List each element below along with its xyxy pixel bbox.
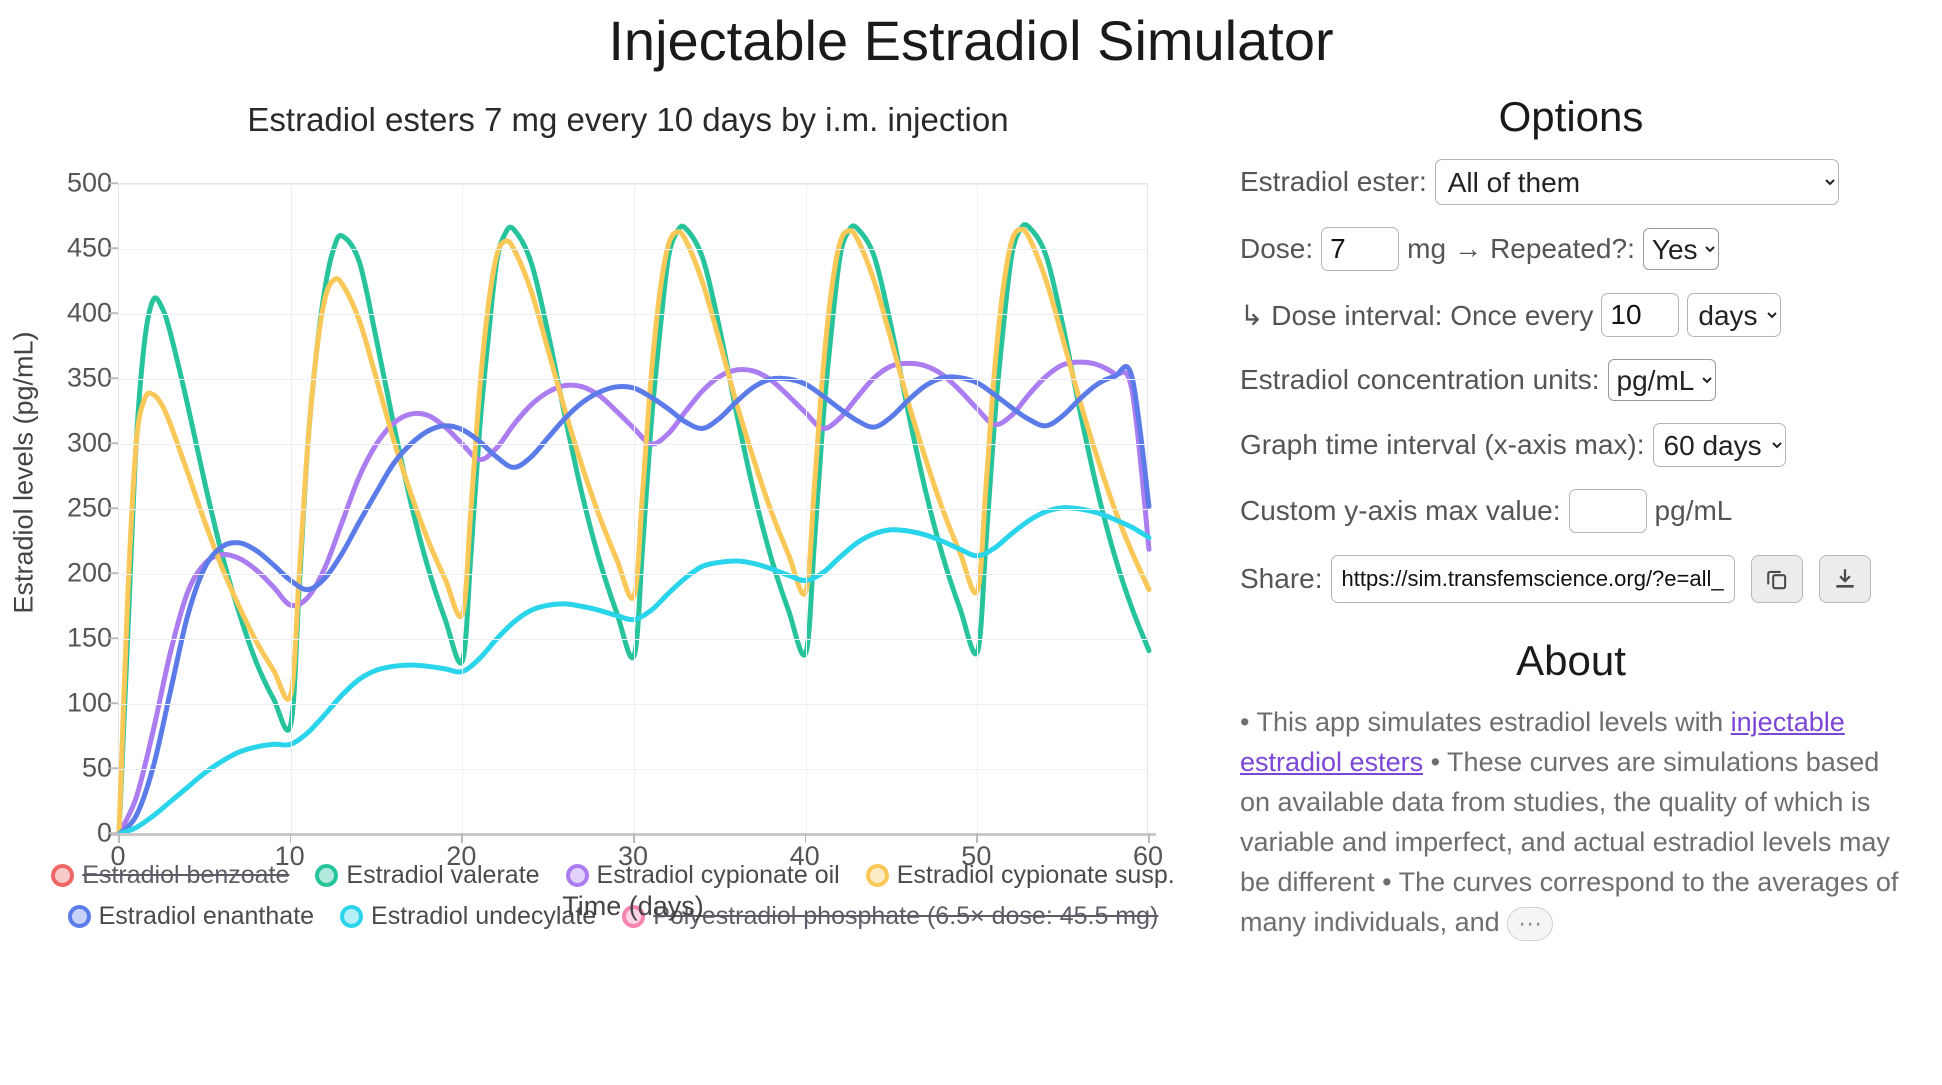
main-layout: Estradiol esters 7 mg every 10 days by i…	[0, 73, 1942, 943]
dose-unit: mg	[1407, 233, 1446, 265]
y-axis-tick-mark	[109, 832, 118, 834]
x-axis-tick-mark	[118, 833, 120, 843]
interval-input[interactable]	[1601, 293, 1679, 337]
gridline-horizontal	[119, 509, 1147, 510]
ymax-row: Custom y-axis max value: pg/mL	[1240, 489, 1902, 533]
share-row: Share:	[1240, 555, 1902, 603]
y-axis-tick-mark	[109, 312, 118, 314]
download-icon[interactable]	[1819, 555, 1871, 603]
ymax-input[interactable]	[1569, 489, 1647, 533]
x-axis-tick-mark	[1148, 833, 1150, 843]
gridline-horizontal	[119, 379, 1147, 380]
y-axis-tick-label: 500	[0, 168, 112, 199]
options-heading: Options	[1240, 93, 1902, 141]
about-text: • This app simulates estradiol levels wi…	[1240, 703, 1902, 943]
x-axis-tick-label: 20	[416, 841, 506, 872]
dose-label: Dose:	[1240, 233, 1313, 265]
y-axis-tick-mark	[109, 702, 118, 704]
dose-row: Dose: mg → Repeated?: Yes	[1240, 227, 1902, 271]
x-axis-tick-mark	[976, 833, 978, 843]
ester-select[interactable]: All of them	[1435, 159, 1839, 205]
gridline-vertical	[291, 184, 292, 833]
gridline-horizontal	[119, 704, 1147, 705]
time-interval-select[interactable]: 60 days	[1653, 423, 1786, 467]
y-axis-tick-mark	[109, 637, 118, 639]
interval-label: ↳ Dose interval: Once every	[1240, 299, 1593, 332]
y-axis-tick-mark	[109, 377, 118, 379]
y-axis-tick-label: 400	[0, 298, 112, 329]
x-axis-tick-mark	[633, 833, 635, 843]
x-axis-tick-label: 50	[931, 841, 1021, 872]
y-axis-tick-mark	[109, 767, 118, 769]
y-axis-tick-mark	[109, 572, 118, 574]
legend-marker-icon	[68, 905, 91, 928]
time-interval-row: Graph time interval (x-axis max): 60 day…	[1240, 423, 1902, 467]
y-axis-tick-label: 100	[0, 688, 112, 719]
ymax-unit: pg/mL	[1655, 495, 1733, 527]
x-axis-tick-mark	[805, 833, 807, 843]
x-axis-tick-label: 10	[245, 841, 335, 872]
repeated-select[interactable]: Yes	[1643, 228, 1719, 270]
x-axis-tick-mark	[461, 833, 463, 843]
gridline-horizontal	[119, 249, 1147, 250]
y-axis-tick-label: 200	[0, 558, 112, 589]
legend-marker-icon	[866, 864, 889, 887]
y-axis-tick-label: 350	[0, 363, 112, 394]
gridline-horizontal	[119, 574, 1147, 575]
gridline-vertical	[462, 184, 463, 833]
x-axis-tick-label: 60	[1103, 841, 1193, 872]
units-row: Estradiol concentration units: pg/mL	[1240, 359, 1902, 401]
y-axis-tick-label: 300	[0, 428, 112, 459]
copy-icon[interactable]	[1751, 555, 1803, 603]
y-axis-tick-mark	[109, 507, 118, 509]
legend-marker-icon	[51, 864, 74, 887]
y-axis-tick-mark	[109, 442, 118, 444]
time-interval-label: Graph time interval (x-axis max):	[1240, 429, 1645, 461]
ester-label: Estradiol ester:	[1240, 166, 1427, 198]
about-heading: About	[1240, 637, 1902, 685]
chart-title: Estradiol esters 7 mg every 10 days by i…	[0, 101, 1216, 139]
options-panel: Options Estradiol ester: All of them Dos…	[1216, 73, 1942, 943]
y-axis-tick-label: 150	[0, 623, 112, 654]
units-select[interactable]: pg/mL	[1608, 359, 1716, 401]
gridline-horizontal	[119, 444, 1147, 445]
gridline-horizontal	[119, 184, 1147, 185]
y-axis-tick-mark	[109, 247, 118, 249]
interval-row: ↳ Dose interval: Once every days	[1240, 293, 1902, 337]
x-axis-tick-mark	[290, 833, 292, 843]
x-axis-tick-label: 30	[588, 841, 678, 872]
gridline-vertical	[806, 184, 807, 833]
page-title: Injectable Estradiol Simulator	[0, 8, 1942, 73]
units-label: Estradiol concentration units:	[1240, 364, 1600, 396]
chart-panel: Estradiol esters 7 mg every 10 days by i…	[0, 73, 1216, 943]
gridline-vertical	[634, 184, 635, 833]
share-label: Share:	[1240, 563, 1323, 595]
expand-about-button[interactable]: ···	[1507, 907, 1553, 941]
arrow-icon: →	[1454, 233, 1482, 265]
dose-input[interactable]	[1321, 227, 1399, 271]
x-axis-tick-label: 40	[760, 841, 850, 872]
gridline-horizontal	[119, 769, 1147, 770]
y-axis-tick-label: 250	[0, 493, 112, 524]
interval-unit-select[interactable]: days	[1687, 293, 1781, 337]
y-axis-tick-label: 450	[0, 233, 112, 264]
y-axis-tick-label: 50	[0, 753, 112, 784]
ester-row: Estradiol ester: All of them	[1240, 159, 1902, 205]
y-axis-tick-mark	[109, 182, 118, 184]
gridline-horizontal	[119, 639, 1147, 640]
share-input[interactable]	[1331, 555, 1735, 603]
x-axis-tick-label: 0	[73, 841, 163, 872]
legend-marker-icon	[566, 864, 589, 887]
x-axis-label: Time (days)	[118, 891, 1148, 922]
gridline-vertical	[977, 184, 978, 833]
repeated-label: Repeated?:	[1490, 233, 1635, 265]
plot-area	[118, 183, 1148, 833]
ymax-label: Custom y-axis max value:	[1240, 495, 1561, 527]
about-text-part-1: • This app simulates estradiol levels wi…	[1240, 707, 1731, 737]
plot-wrapper: Estradiol levels (pg/mL) Time (days) 050…	[0, 147, 1216, 847]
gridline-horizontal	[119, 314, 1147, 315]
